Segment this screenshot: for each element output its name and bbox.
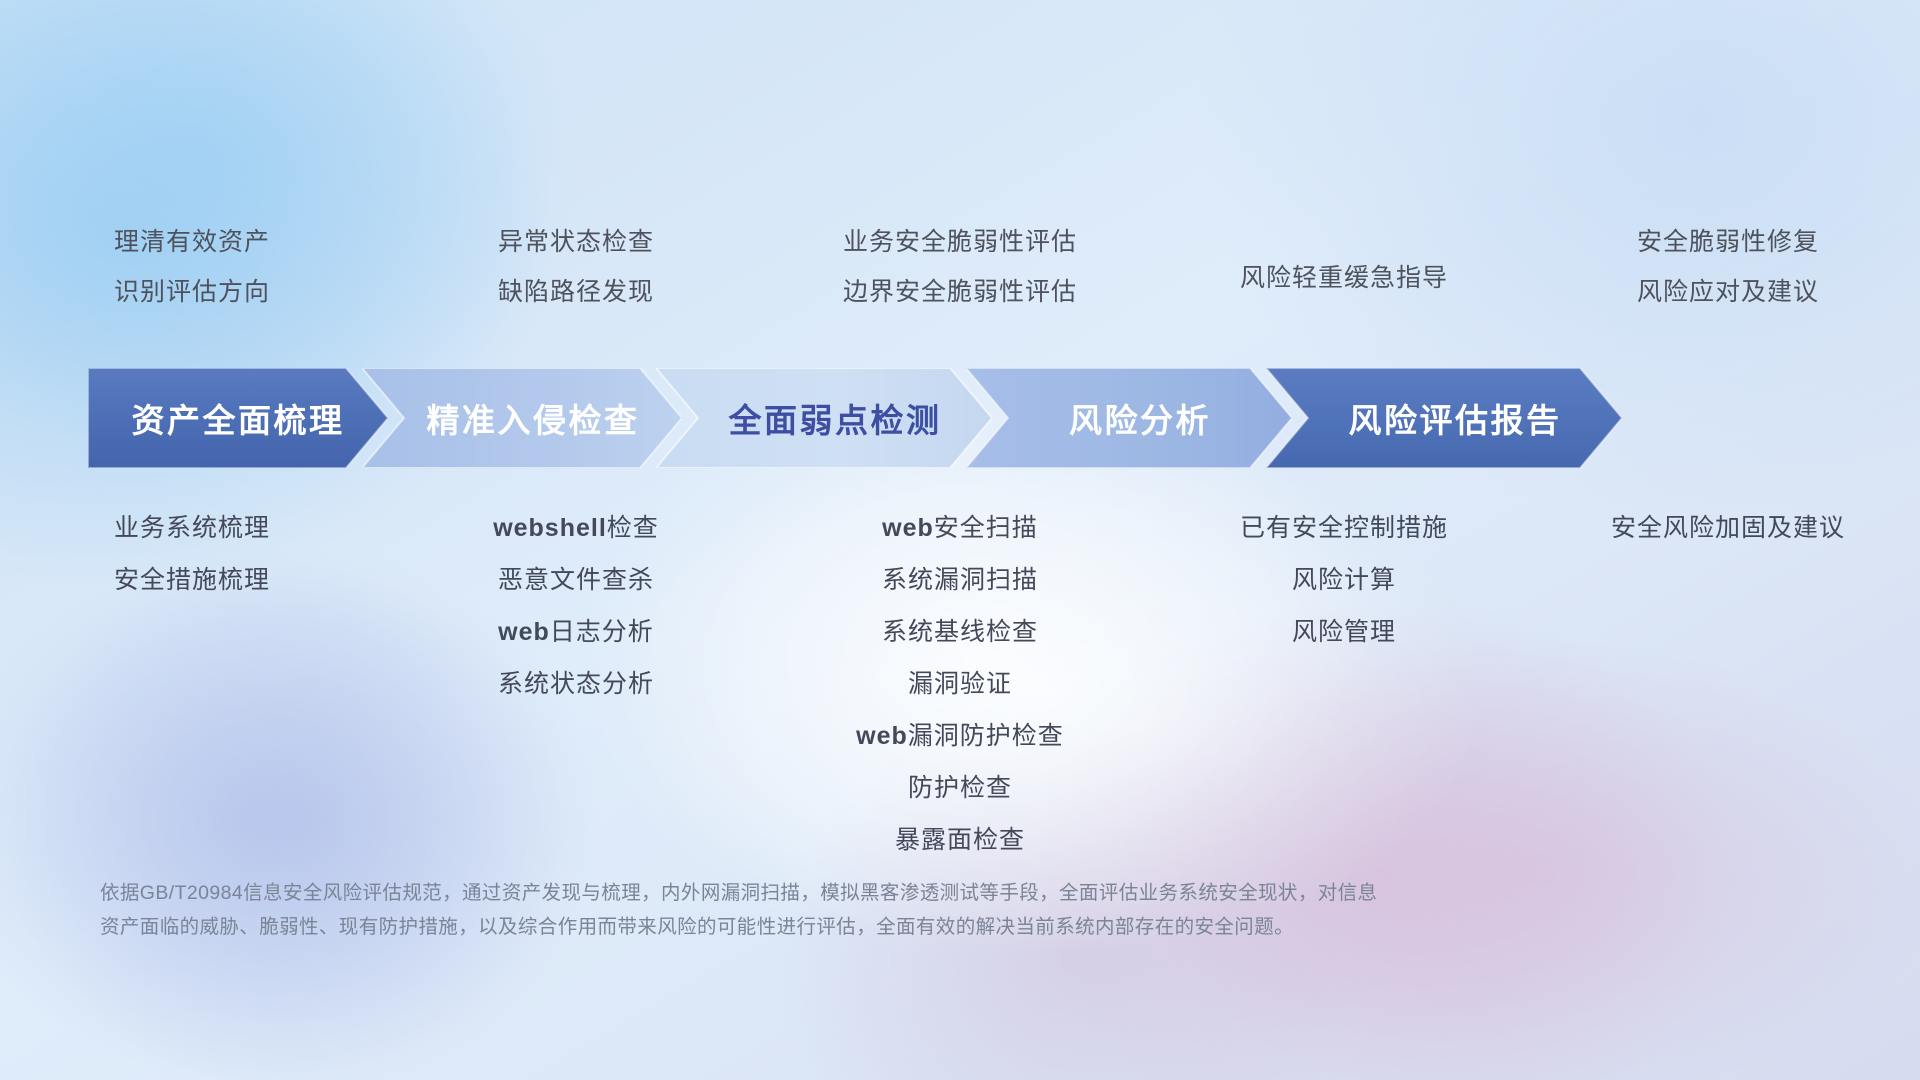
list-item: 业务系统梳理 [114,508,270,544]
top-labels-row: 理清有效资产 识别评估方向 异常状态检查 缺陷路径发现 业务安全脆弱性评估 边界… [0,216,1920,336]
stage-label: 风险评估报告 [1349,394,1562,442]
stage-label: 全面弱点检测 [729,394,942,442]
list-item: 已有安全控制措施 [1240,508,1448,544]
stage-arrow-4[interactable]: 风险分析 [966,368,1292,468]
list-item: 暴露面检查 [895,820,1025,856]
process-arrow-band: 资产全面梳理 精准入侵检查 [88,368,1848,468]
top-label-group-3: 业务安全脆弱性评估 边界安全脆弱性评估 [768,216,1152,336]
list-item: 风险计算 [1292,560,1396,596]
top-label: 理清有效资产 [114,222,270,258]
list-item-suffix: 安全扫描 [934,514,1038,542]
list-item-suffix: 日志分析 [550,618,654,646]
slide-canvas: 理清有效资产 识别评估方向 异常状态检查 缺陷路径发现 业务安全脆弱性评估 边界… [0,0,1920,1080]
footer-line-1: 依据GB/T20984信息安全风险评估规范，通过资产发现与梳理，内外网漏洞扫描，… [100,876,1830,910]
list-item: web日志分析 [498,612,654,648]
top-label-group-1: 理清有效资产 识别评估方向 [0,216,384,336]
top-label: 缺陷路径发现 [498,272,654,308]
stage-label: 风险分析 [1069,394,1211,442]
top-label-group-2: 异常状态检查 缺陷路径发现 [384,216,768,336]
list-item: 系统漏洞扫描 [882,560,1038,596]
list-item: 漏洞验证 [908,664,1012,700]
stage-arrow-2[interactable]: 精准入侵检查 [362,368,682,468]
list-item: 安全措施梳理 [114,560,270,596]
list-item: 系统状态分析 [498,664,654,700]
stage-arrow-3[interactable]: 全面弱点检测 [656,368,992,468]
detail-lists-row: 业务系统梳理 安全措施梳理 webshell检查 恶意文件查杀 web日志分析 … [0,508,1920,848]
footer-description: 依据GB/T20984信息安全风险评估规范，通过资产发现与梳理，内外网漏洞扫描，… [100,876,1830,944]
detail-list-5: 安全风险加固及建议 [1536,508,1920,848]
list-item: 恶意文件查杀 [498,560,654,596]
stage-arrow-5[interactable]: 风险评估报告 [1266,368,1622,468]
detail-list-3: web安全扫描 系统漏洞扫描 系统基线检查 漏洞验证 web漏洞防护检查 防护检… [768,508,1152,848]
stage-label: 资产全面梳理 [132,394,345,442]
list-item-suffix: 检查 [607,514,659,542]
list-item: 安全风险加固及建议 [1611,508,1845,544]
top-label: 风险轻重缓急指导 [1240,258,1448,294]
detail-list-1: 业务系统梳理 安全措施梳理 [0,508,384,848]
list-item: 防护检查 [908,768,1012,804]
list-item: 系统基线检查 [882,612,1038,648]
list-item: webshell检查 [493,508,659,544]
list-item-suffix: 漏洞防护检查 [908,722,1064,750]
list-item: web漏洞防护检查 [856,716,1064,752]
detail-list-2: webshell检查 恶意文件查杀 web日志分析 系统状态分析 [384,508,768,848]
top-label: 识别评估方向 [114,272,270,308]
footer-line-2: 资产面临的威胁、脆弱性、现有防护措施，以及综合作用而带来风险的可能性进行评估，全… [100,910,1830,944]
top-label: 安全脆弱性修复 [1637,222,1819,258]
list-item: web安全扫描 [882,508,1038,544]
stage-label: 精准入侵检查 [427,394,640,442]
top-label: 边界安全脆弱性评估 [843,272,1077,308]
list-item: 风险管理 [1292,612,1396,648]
top-label-group-4: 风险轻重缓急指导 [1152,216,1536,336]
top-label: 业务安全脆弱性评估 [843,222,1077,258]
stage-arrow-1[interactable]: 资产全面梳理 [88,368,388,468]
top-label-group-5: 安全脆弱性修复 风险应对及建议 [1536,216,1920,336]
detail-list-4: 已有安全控制措施 风险计算 风险管理 [1152,508,1536,848]
top-label: 异常状态检查 [498,222,654,258]
top-label: 风险应对及建议 [1637,272,1819,308]
